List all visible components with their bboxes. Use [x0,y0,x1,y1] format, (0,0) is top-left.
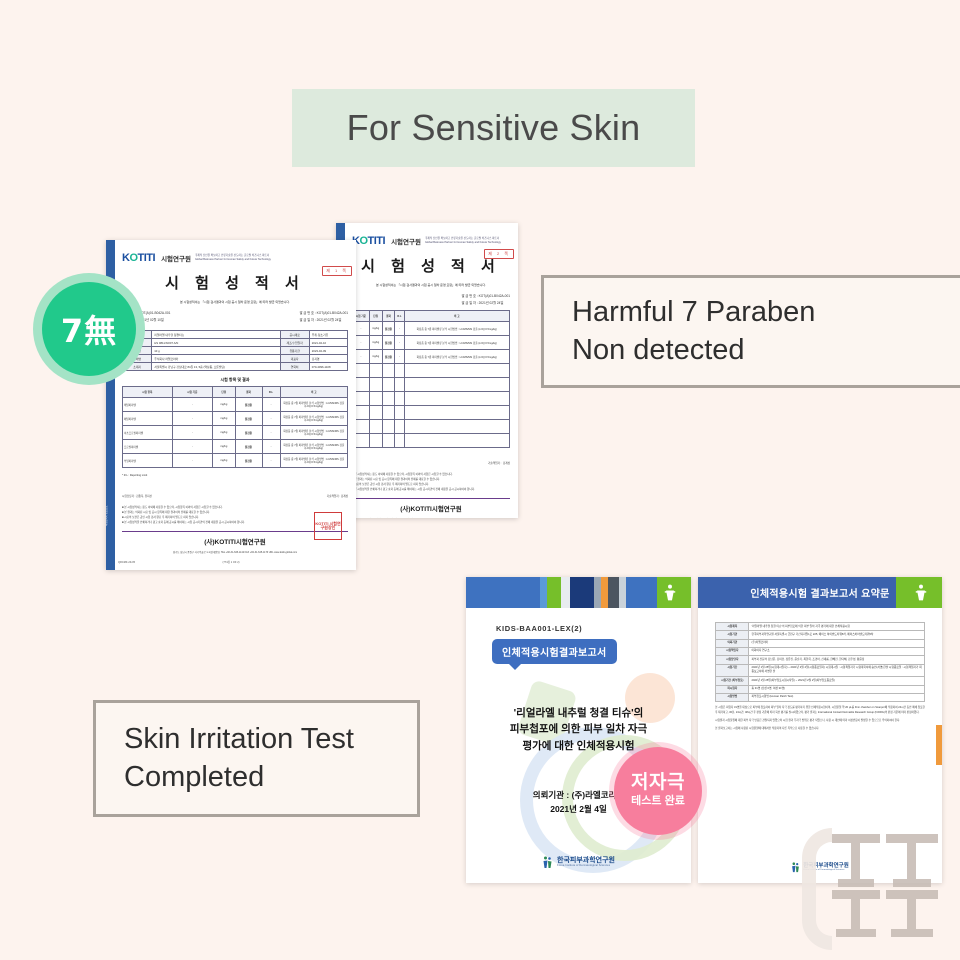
table-row: 이소프로필파라벤 - mg/kg 불검출 - 화장품 중 7종 파라벤류 분석 … [123,426,348,440]
page-root: For Sensitive Skin 시험성적서 확인번호 KOTITI 시험연… [0,0,960,960]
cert-results-table: 시험 항목 시험 기준 단위 결과 R.L 비 고 메틸파라벤 - mg/kg … [122,386,348,468]
callout-skin-irritation: Skin Irritation Test Completed [93,700,420,817]
summary-header-label: 인체적용시험 결과보고서 요약문 [750,585,889,600]
table-row: 소재지서울특별시 강남구 강남대로 84길 13, 5층 (역삼동, 오륜빌딩)… [123,363,348,371]
report-type-badge: 인체적용시험결과보고서 [492,639,617,664]
table-row: - mg/kg 불검출 - 화장품 중 7종 파라벤류 분석 시험방법 : LC… [353,350,510,364]
table-row: 시험방법피부첩포시험법 (Human Patch Test) [716,693,925,701]
clinical-report-right-page: 인체적용시험 결과보고서 요약문 시험제목'리얼라엘 내추럴 청결 티슈'의 피… [698,577,942,883]
low-irritation-badge: 저자극 테스트 완료 [614,747,702,835]
summary-paragraph-3: 본 결과보고서는 시험에 사용된 시험물질에 대해서만 적용되며 다른 목적으로… [715,727,925,731]
cert-signers: 기술책임자 : 김계성 [352,462,510,467]
callout-line-1: Skin Irritation Test [124,721,354,758]
kotiti-tagline: 국제적 신인을 확보하고 인류기술을 선도하는 글로벌 비즈니스 파트너 Glo… [195,254,348,262]
table-row [353,406,510,420]
institute-logo-left: 한국피부과학연구원 Korea Institute of Dermatologi… [466,856,691,869]
seven-free-badge: 7無 [33,273,145,385]
kotiti-certificate-page-2: 시험성적서 확인번호 KOTITI 시험연구원 국제적 신인을 확보하고 인류기… [336,223,518,518]
cert-footer-address: 경기도 성남시 중원구 사기막골로 1-1(상대원동) TEL +82-31-6… [122,550,348,554]
institute-name: 한국피부과학연구원 Korea Institute of Dermatologi… [803,863,849,871]
kotiti-wordmark: KOTITI [122,253,155,264]
cert-meta: 발 급 번 호 : KOT(A)01-B042A-001 발 급 일 자 : 2… [352,293,510,307]
table-row: 메틸파라벤 - mg/kg 불검출 - 화장품 중 7종 파라벤류 분석 시험방… [123,398,348,412]
table-row: 제조사명HS 0811/NO07 A/N 제조/수입일자2021-02-10 [123,339,348,347]
table-row: 시험제목'리얼라엘 내추럴 청결 티슈'의 피부첩포에 의한 피부 일차 자극 … [716,623,925,631]
clinical-report-left-page: KIDS-BAA001-LEX(2) 인체적용시험결과보고서 '리얼라엘 내추럴… [466,577,691,883]
cert-footer-address: 경기도 성남시 중원구 사기막골로 1-1(상대원동) TEL +82-31-6… [352,517,510,518]
table-row: 부틸파라벤 - mg/kg 불검출 - 화장품 중 7종 파라벤류 분석 시험방… [123,454,348,468]
table-row: 시험기간2021년 1월 28일(시험개시일자) ~ 2021년 2월 4일(시… [716,664,925,677]
cert-form-code: QRCMF-29-05 [118,561,135,564]
institute-figure-icon [791,862,800,873]
header-banner: For Sensitive Skin [292,89,695,167]
summary-paragraph-2: 시험결과 시험물질에 대한 피부 자극 반응은 관찰되지 않았으며 시험 결과 … [715,719,925,723]
institute-mark-icon [663,584,677,601]
callout-line-1: Harmful 7 Paraben [572,294,815,331]
cert-page-stamp: 제 1 쪽 [322,266,352,276]
kotiti-logo: KOTITI 시험연구원 국제적 신인을 확보하고 인류기술을 선도하는 글로벌… [122,253,348,264]
clinical-report-group: KIDS-BAA001-LEX(2) 인체적용시험결과보고서 '리얼라엘 내추럴… [466,577,942,883]
table-row: 시험기관한국피부과학연구원 서울특별시 금천구 가산디지털1로 225, 에이스… [716,631,925,639]
kotiti-certificate-page-1: 시험성적서 확인번호 KOTITI 시험연구원 국제적 신인을 확보하고 인류기… [106,240,356,570]
table-row [353,420,510,434]
official-seal-stamp: KOTITI 시험연구원장인 [314,512,342,540]
cert-meta: 접 수 번 호 : KOT(A)01-B042A-001 접 수 일 자 : 2… [122,310,348,324]
table-row: 접수량10 g 유통기한2023-02-09 [123,347,348,355]
cert-subnote: 본 시험성적서는 「시험·검사결과의 시험 공시 절차 운영 요령」에 따라 발… [352,283,510,287]
seven-free-badge-label: 7無 [42,282,136,376]
table-row: - mg/kg 불검출 - 화장품 중 7종 파라벤류 분석 시험방법 : LC… [353,322,510,336]
table-row [353,378,510,392]
institute-logo-right: 한국피부과학연구원 Korea Institute of Dermatologi… [698,862,942,873]
kotiti-logo: KOTITI 시험연구원 국제적 신인을 확보하고 인류기술을 선도하는 글로벌… [352,236,510,247]
cert-page-number: (774장 1 OF 2) [222,560,239,564]
table-row [353,392,510,406]
cert-notices: ■ 본 시험성적서는 용도 이외에 사용할 수 없으며, 시험항목 이외의 사항… [352,473,510,493]
table-row: - mg/kg 불검출 - 화장품 중 7종 파라벤류 분석 시험방법 : LC… [353,336,510,350]
cert-subnote: 본 시험성적서는 「시험·검사결과의 시험 공시 절차 운영 요령」에 따라 발… [122,300,348,304]
table-row: 시료명리얼라엘 내추럴 청결티슈 공시재료무취·청소기류 [123,331,348,339]
summary-header: 인체적용시험 결과보고서 요약문 [698,577,942,608]
table-row: 시험담당자피부과 전문의 김남은, 김미경, 정유진, 윤슬기, 최한희, 조경… [716,656,925,664]
report-code: KIDS-BAA001-LEX(2) [496,624,691,633]
cert-rl-footnote: * R.L : Reporting Limit [122,474,348,479]
table-row: 에틸파라벤 - mg/kg 불검출 - 화장품 중 7종 파라벤류 분석 시험방… [123,412,348,426]
low-irritation-badge-line1: 저자극 [631,773,685,793]
cert-divider [352,498,510,499]
cert-page-stamp: 제 2 쪽 [484,249,514,259]
institute-figure-icon [542,856,553,869]
cert-signers: 시험담당자 : 김종욱, 유지선 기술책임자 : 김계성 [122,495,348,500]
summary-table: 시험제목'리얼라엘 내추럴 청결 티슈'의 피부첩포에 의한 피부 일차 자극 … [715,622,925,702]
kotiti-wordmark: KOTITI [352,236,385,247]
cert-results-table: 시험 기준 단위 결과 R.L 비 고 - mg/kg 불검출 - 화장품 중 … [352,310,510,448]
kotiti-korean-name: 시험연구원 [161,253,191,263]
page-title: For Sensitive Skin [347,107,641,149]
table-row: 시험책임자이화여자 연구소 [716,647,925,655]
institute-mark-icon [914,584,928,601]
cert-side-code: 시험성적서 확인번호 [106,506,108,526]
table-row: 업체명주식회사 라엘코리아 대표자김지영 [123,355,348,363]
table-row: 의뢰기관(주)라엘코리아 [716,639,925,647]
table-row: 시험기간 (피부첩포)2021년 1월 28일(피부첩포시험시작일) ~ 202… [716,677,925,685]
cert-info-table: 시료명리얼라엘 내추럴 청결티슈 공시재료무취·청소기류 제조사명HS 0811… [122,330,348,371]
institute-name: 한국피부과학연구원 Korea Institute of Dermatologi… [557,857,615,868]
table-row [353,434,510,448]
cert-results-heading: 시험 항목 및 결과 [122,377,348,383]
clinical-report-topbar [466,577,691,608]
kotiti-korean-name: 시험연구원 [391,236,421,246]
callout-line-2: Completed [124,759,354,796]
callout-line-2: Non detected [572,332,815,369]
cert-footer-org: (사)KOTITI시험연구원 [352,503,510,513]
low-irritation-badge-line2: 테스트 완료 [631,795,685,808]
summary-paragraph-1: 본 시험은 피험자 31명을 대상으로 피부에 첩포하여 피부 일차 자극 정도… [715,706,925,715]
table-row: 피시험자총 31명 (남성 0명, 여성 31명) [716,685,925,693]
table-row: 프로필파라벤 - mg/kg 불검출 - 화장품 중 7종 파라벤류 분석 시험… [123,440,348,454]
table-row [353,364,510,378]
cert-title: 시 험 성 적 서 [122,272,348,293]
kotiti-tagline: 국제적 신인을 확보하고 인류기술을 선도하는 글로벌 비즈니스 파트너 Glo… [425,237,510,245]
callout-harmful-paraben: Harmful 7 Paraben Non detected [541,275,960,388]
page-edge-tab [936,725,942,765]
